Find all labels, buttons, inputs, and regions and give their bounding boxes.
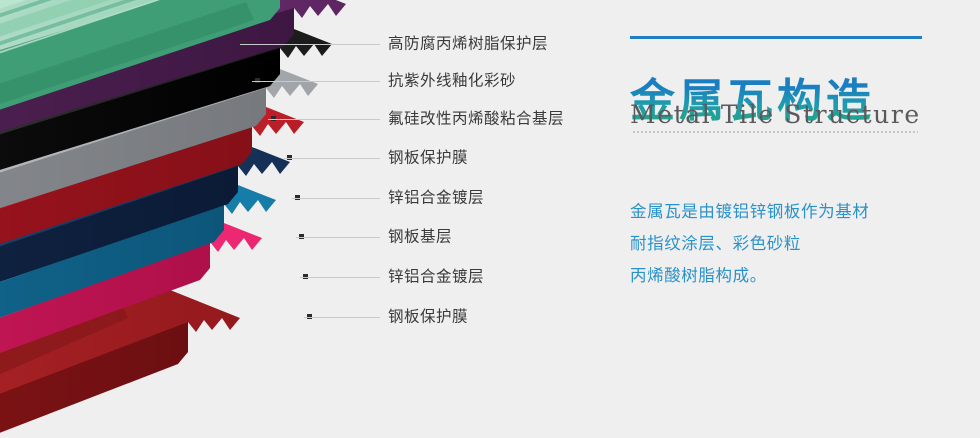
leader-line-7 [300, 277, 380, 278]
callout-label-8: 钢板保护膜 [388, 309, 468, 325]
callout-label-6: 钢板基层 [388, 229, 452, 245]
leader-line-3 [268, 119, 380, 120]
callout-label-4: 钢板保护膜 [388, 150, 468, 166]
callout-label-2: 抗紫外线釉化彩砂 [388, 73, 516, 89]
description-line-2: 耐指纹涂层、彩色砂粒 [630, 228, 978, 260]
callout-label-3: 氟硅改性丙烯酸粘合基层 [388, 111, 564, 127]
right-info-panel: 金属瓦构造 Metal Tile Structure 金属瓦是由镀铝锌钢板作为基… [622, 0, 980, 438]
leader-line-8 [304, 317, 380, 318]
title-top-rule [630, 36, 922, 39]
poster-canvas: 高防腐丙烯树脂保护层抗紫外线釉化彩砂氟硅改性丙烯酸粘合基层钢板保护膜锌铝合金镀层… [0, 0, 980, 438]
title-dotted-rule [632, 131, 918, 133]
description-text: 金属瓦是由镀铝锌钢板作为基材耐指纹涂层、彩色砂粒丙烯酸树脂构成。 [630, 196, 978, 292]
callout-label-7: 锌铝合金镀层 [388, 269, 484, 285]
description-line-3: 丙烯酸树脂构成。 [630, 260, 978, 292]
leader-line-4 [284, 158, 380, 159]
leader-line-6 [296, 237, 380, 238]
metal-tile-illustration [0, 0, 400, 438]
leader-line-1 [240, 44, 380, 45]
callout-label-5: 锌铝合金镀层 [388, 190, 484, 206]
leader-line-2 [252, 81, 380, 82]
page-title-english: Metal Tile Structure [630, 100, 921, 129]
description-line-1: 金属瓦是由镀铝锌钢板作为基材 [630, 196, 978, 228]
callout-label-1: 高防腐丙烯树脂保护层 [388, 36, 548, 52]
leader-line-5 [292, 198, 380, 199]
